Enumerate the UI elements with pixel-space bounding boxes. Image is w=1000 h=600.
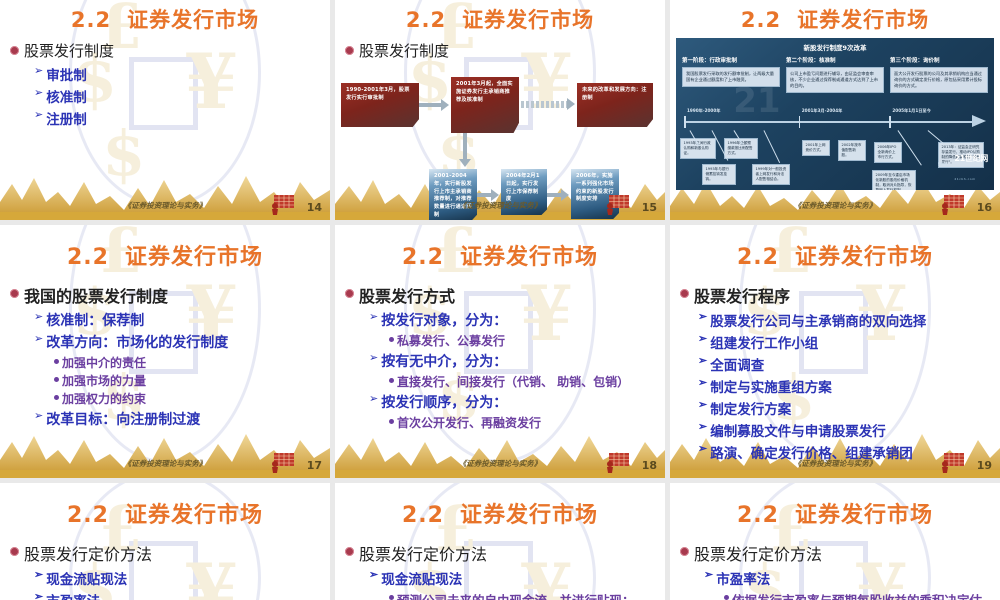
bullet-dot-icon	[389, 419, 394, 424]
heading-bullet: 股票发行方式	[345, 283, 655, 307]
list-item: ➢核准制：保荐制	[34, 310, 320, 330]
infographic-title: 新股发行制度9次改革	[682, 42, 988, 52]
flow-diagram: 1990-2001年3月，股票发行实行审批制 2001年3月起，全面实施证券发行…	[341, 65, 659, 215]
arrow-icon: ➢	[698, 442, 707, 457]
arrow-icon: ➢	[34, 409, 43, 424]
slide-body: 股票发行制度	[335, 34, 665, 61]
slide-thumbnail-15[interactable]: £$ ¥$ 2.2证券发行市场 股票发行制度 1990-2001年3月，股票发行…	[335, 0, 665, 220]
stage-header: 第二个阶段：核准制	[786, 56, 884, 64]
brand-label: 制图：	[938, 162, 952, 168]
slide-thumbnail-grid: £$ ¥$ 2.2证券发行市场 股票发行制度 ➢审批制 ➢核准制 ➢注册制 《证…	[0, 0, 1000, 600]
list-item: ➢组建发行工作小组	[698, 332, 990, 352]
bullet-dot-icon	[680, 547, 689, 556]
list-item: ➢全面调查	[698, 354, 990, 374]
arrow-icon: ➢	[34, 590, 43, 600]
slide-thumbnail-18[interactable]: £$ ¥$ 2.2证券发行市场 股票发行方式 ➢按发行对象，分为： 私募发行、公…	[335, 225, 665, 478]
bullet-dot-icon	[10, 46, 19, 55]
axis-tick-label: 1990年-2000年	[687, 108, 720, 114]
flow-arrow-head-icon	[567, 98, 575, 110]
heading-bullet: 我国的股票发行制度	[10, 283, 320, 307]
stage-text: 面大公开发行股票的公司及其承销机构应当通过询价的方式确定发行价格，原包括采用累计…	[890, 67, 988, 93]
callout-box: 2002年按市值配售新股。	[838, 140, 866, 161]
stage-row: 第一阶段：行政审批制 我国股票发行采取的发行额审批制，让两级大量国有企业通过额度…	[682, 56, 988, 93]
sub-list-item: 首次公开发行、再融资发行	[389, 414, 655, 431]
page-title: 2.2证券发行市场	[0, 225, 330, 271]
timeline-axis: 1990年-2000年 2001年3月-2004年 2005年1月1日至今	[684, 116, 986, 128]
flow-box: 2001-2004年，实行新股发行上市主承销商推荐制，对推荐数量进行通道限制	[429, 169, 477, 220]
stage-block: 第三个阶段：询价制 面大公开发行股票的公司及其承销机构应当通过询价的方式确定发行…	[890, 56, 988, 93]
heading-bullet: 股票发行制度	[345, 40, 655, 61]
bullet-dot-icon	[389, 378, 394, 383]
flow-arrow-head-icon	[459, 159, 471, 167]
brand-sub: 21cbh.com	[954, 177, 975, 181]
publisher-logo-icon	[938, 195, 964, 215]
publisher-logo-icon	[938, 453, 964, 473]
callout-box: 2009年至今重启市场化新股的股改价格机制，取消对片指导，恢复网上发行机制。	[872, 170, 916, 190]
flow-dashed-arrow	[521, 101, 569, 108]
bullet-dot-icon	[10, 547, 19, 556]
arrow-icon: ➢	[34, 310, 43, 325]
arrow-icon: ➢	[698, 354, 707, 369]
axis-arrow-icon	[972, 115, 986, 127]
callout-box: 1993年之间行政认购和新股认购证。	[680, 138, 716, 159]
list-item: ➢按有无中介，分为：	[369, 351, 655, 371]
list-item: ➢现金流贴现法	[369, 568, 655, 588]
page-title: 2.2证券发行市场	[335, 225, 665, 271]
flow-box: 2001年3月起，全面实施证券发行主承销商推荐及核准制	[451, 77, 519, 133]
list-item: ➢现金流贴现法	[34, 568, 320, 588]
callout-box: 2001年上网竞价方式。	[802, 140, 830, 156]
callout-box: 2006年IPO全新询价上市行方式。	[874, 142, 902, 163]
page-title: 2.2证券发行市场	[670, 483, 1000, 529]
bullet-dot-icon	[389, 595, 394, 600]
sub-list-item: 依据发行市盈率与预期每股收益的乘积决定估值	[724, 590, 990, 600]
sub-list-item: 加强市场的力量	[54, 372, 320, 389]
arrow-icon: ➢	[698, 376, 707, 391]
callout-box: 1999年对一般投资者上网发行和对法人配售相结合。	[752, 164, 790, 185]
list-item: ➢市盈率法	[34, 590, 320, 600]
sub-list-item: 加强权力的约束	[54, 390, 320, 407]
slide-body: 股票发行方式 ➢按发行对象，分为： 私募发行、公募发行 ➢按有无中介，分为： 直…	[335, 271, 665, 431]
heading-bullet: 股票发行制度	[10, 40, 320, 61]
bullet-dot-icon	[345, 547, 354, 556]
stage-header: 第三个阶段：询价制	[890, 56, 988, 64]
arrow-icon: ➢	[704, 568, 713, 583]
bullet-dot-icon	[54, 359, 59, 364]
page-number: 18	[642, 459, 657, 472]
list-item: ➢核准制	[34, 86, 320, 106]
publisher-logo-icon	[268, 453, 294, 473]
arrow-icon: ➢	[34, 86, 43, 101]
page-number: 14	[307, 201, 322, 214]
brand-name: 21世纪网	[954, 154, 988, 163]
slide-thumbnail-21[interactable]: £ $ ¥ 2.2证券发行市场 股票发行定价方法 ➢现金流贴现法 预测公司未来的…	[335, 483, 665, 600]
arrow-icon: ➢	[698, 420, 707, 435]
list-item: ➢注册制	[34, 108, 320, 128]
page-number: 19	[977, 459, 992, 472]
page-title: 2.2证券发行市场	[670, 225, 1000, 271]
arrow-icon: ➢	[34, 108, 43, 123]
slide-body: 股票发行定价方法 ➢现金流贴现法 预测公司未来的自由现金流，并进行贴现； 既考虑…	[335, 529, 665, 600]
slide-thumbnail-17[interactable]: £$ ¥$ 2.2证券发行市场 我国的股票发行制度 ➢核准制：保荐制 ➢改革方向…	[0, 225, 330, 478]
flow-arrow-head-icon	[441, 99, 449, 111]
slide-body: 股票发行制度 ➢审批制 ➢核准制 ➢注册制	[0, 34, 330, 128]
sub-list-item: 预测公司未来的自由现金流，并进行贴现；	[389, 590, 655, 600]
arrow-icon: ➢	[698, 310, 707, 325]
page-title: 2.2证券发行市场	[335, 0, 665, 34]
arrow-icon: ➢	[698, 398, 707, 413]
page-number: 15	[642, 201, 657, 214]
list-item: ➢编制募股文件与申请股票发行	[698, 420, 990, 440]
sub-list-item: 直接发行、间接发行（代销、 助销、包销）	[389, 373, 655, 390]
list-item: ➢按发行顺序，分为：	[369, 392, 655, 412]
flow-box: 1990-2001年3月，股票发行实行审批制	[341, 83, 419, 127]
timeline-infographic: 21 新股发行制度9次改革 第一阶段：行政审批制 我国股票发行采取的发行额审批制…	[676, 38, 994, 190]
bullet-dot-icon	[10, 289, 19, 298]
publisher-logo-icon	[268, 195, 294, 215]
page-number: 17	[307, 459, 322, 472]
bullet-dot-icon	[680, 289, 689, 298]
slide-thumbnail-22[interactable]: £ $ ¥ 2.2证券发行市场 股票发行定价方法 ➢市盈率法 依据发行市盈率与预…	[670, 483, 1000, 600]
stage-block: 第二个阶段：核准制 公司上市盈亏问题进行辅导，由证监会审查审核，不少企业通过保荐…	[786, 56, 884, 93]
stage-text: 公司上市盈亏问题进行辅导，由证监会审查审核，不少企业通过保荐制或通道方式达到了上…	[786, 67, 884, 93]
slide-thumbnail-14[interactable]: £$ ¥$ 2.2证券发行市场 股票发行制度 ➢审批制 ➢核准制 ➢注册制 《证…	[0, 0, 330, 220]
list-item: ➢改革方向：市场化的发行制度	[34, 332, 320, 352]
bullet-dot-icon	[724, 595, 729, 600]
axis-tick-label: 2001年3月-2004年	[802, 108, 843, 114]
arrow-icon: ➢	[369, 351, 378, 366]
slide-body: 股票发行程序 ➢股票发行公司与主承销商的双向选择 ➢组建发行工作小组 ➢全面调查…	[670, 271, 1000, 462]
list-item: ➢按发行对象，分为：	[369, 310, 655, 330]
list-item: ➢审批制	[34, 64, 320, 84]
publisher-logo-icon	[603, 195, 629, 215]
sub-list-item: 私募发行、公募发行	[389, 332, 655, 349]
heading-bullet: 股票发行定价方法	[10, 541, 320, 565]
arrow-icon: ➢	[34, 568, 43, 583]
flow-box: 未来的改革和发展方向：注册制	[577, 83, 653, 127]
flow-arrow	[463, 133, 467, 161]
heading-bullet: 股票发行定价方法	[680, 541, 990, 565]
arrow-icon: ➢	[369, 568, 378, 583]
bullet-dot-icon	[54, 395, 59, 400]
slide-thumbnail-19[interactable]: £$ ¥$ 2.2证券发行市场 股票发行程序 ➢股票发行公司与主承销商的双向选择…	[670, 225, 1000, 478]
bullet-dot-icon	[345, 289, 354, 298]
slide-body: 我国的股票发行制度 ➢核准制：保荐制 ➢改革方向：市场化的发行制度 加强中介的责…	[0, 271, 330, 429]
sub-list-item: 加强中介的责任	[54, 354, 320, 371]
slide-body: 股票发行定价方法 ➢市盈率法 依据发行市盈率与预期每股收益的乘积决定估值 每股收…	[670, 529, 1000, 600]
axis-tick-label: 2005年1月1日至今	[892, 108, 930, 114]
arrow-icon: ➢	[698, 332, 707, 347]
stage-header: 第一阶段：行政审批制	[682, 56, 780, 64]
infographic-brand: 制图： 21世纪网 21cbh.com	[938, 146, 988, 184]
page-number: 16	[977, 201, 992, 214]
bullet-dot-icon	[389, 337, 394, 342]
bullet-dot-icon	[54, 377, 59, 382]
list-item: ➢股票发行公司与主承销商的双向选择	[698, 310, 990, 330]
flow-arrow	[419, 103, 443, 107]
heading-bullet: 股票发行程序	[680, 283, 990, 307]
publisher-logo-icon	[603, 453, 629, 473]
callout-box: 1993年与银行储蓄挂钩发挂钩。	[702, 164, 736, 185]
page-title: 2.2证券发行市场	[335, 483, 665, 529]
list-item: ➢市盈率法	[704, 568, 990, 588]
bullet-dot-icon	[345, 46, 354, 55]
infographic-watermark: 21	[733, 81, 780, 121]
arrow-icon: ➢	[34, 64, 43, 79]
slide-thumbnail-16[interactable]: 2.2证券发行市场 21 新股发行制度9次改革 第一阶段：行政审批制 我国股票发…	[670, 0, 1000, 220]
slide-thumbnail-20[interactable]: £ $ ¥ 2.2证券发行市场 股票发行定价方法 ➢现金流贴现法 ➢市盈率法 ➢…	[0, 483, 330, 600]
arrow-icon: ➢	[369, 310, 378, 325]
arrow-icon: ➢	[369, 392, 378, 407]
page-title: 2.2证券发行市场	[0, 0, 330, 34]
slide-body: 股票发行定价方法 ➢现金流贴现法 ➢市盈率法 ➢净资产倍率法	[0, 529, 330, 600]
list-item: ➢改革目标：向注册制过渡	[34, 409, 320, 429]
list-item: ➢制定与实施重组方案	[698, 376, 990, 396]
heading-bullet: 股票发行定价方法	[345, 541, 655, 565]
page-title: 2.2证券发行市场	[0, 483, 330, 529]
arrow-icon: ➢	[34, 332, 43, 347]
list-item: ➢制定发行方案	[698, 398, 990, 418]
page-title: 2.2证券发行市场	[670, 0, 1000, 34]
